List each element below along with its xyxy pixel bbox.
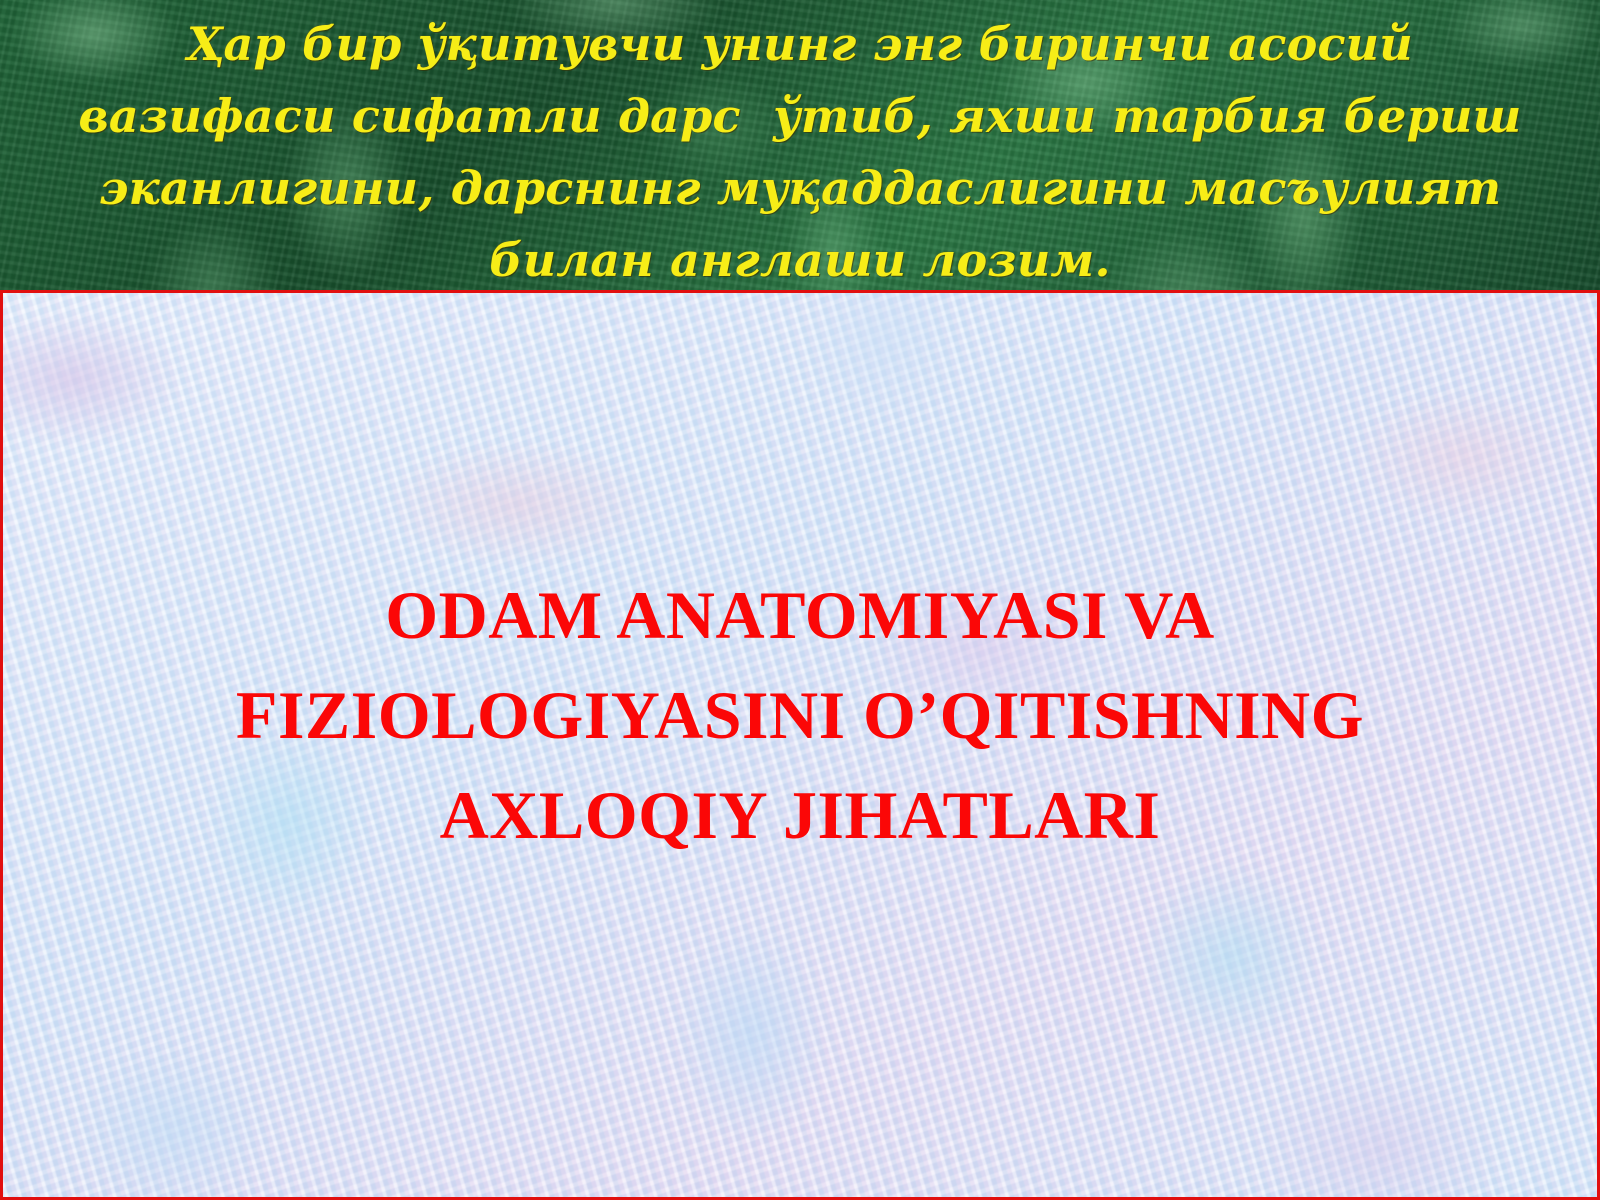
slide-body-panel: ODAM ANATOMIYASI VA FIZIOLOGIYASINI O’QI… xyxy=(0,290,1600,1200)
presentation-slide: Ҳар бир ўқитувчи унинг энг биринчи асоси… xyxy=(0,0,1600,1200)
header-quote-band: Ҳар бир ўқитувчи унинг энг биринчи асоси… xyxy=(0,0,1600,290)
header-quote-line-1: Ҳар бир ўқитувчи унинг энг биринчи асоси… xyxy=(187,8,1413,80)
header-quote-line-2: вазифаси сифатли дарс ўтиб, яхши тарбия … xyxy=(78,80,1521,152)
header-quote-text: Ҳар бир ўқитувчи унинг энг биринчи асоси… xyxy=(0,0,1600,290)
light-marble-texture xyxy=(0,290,1600,1200)
header-quote-line-3: эканлигини, дарснинг муқаддаслигини масъ… xyxy=(99,152,1501,224)
header-quote-line-4: билан англаши лозим. xyxy=(489,224,1110,290)
